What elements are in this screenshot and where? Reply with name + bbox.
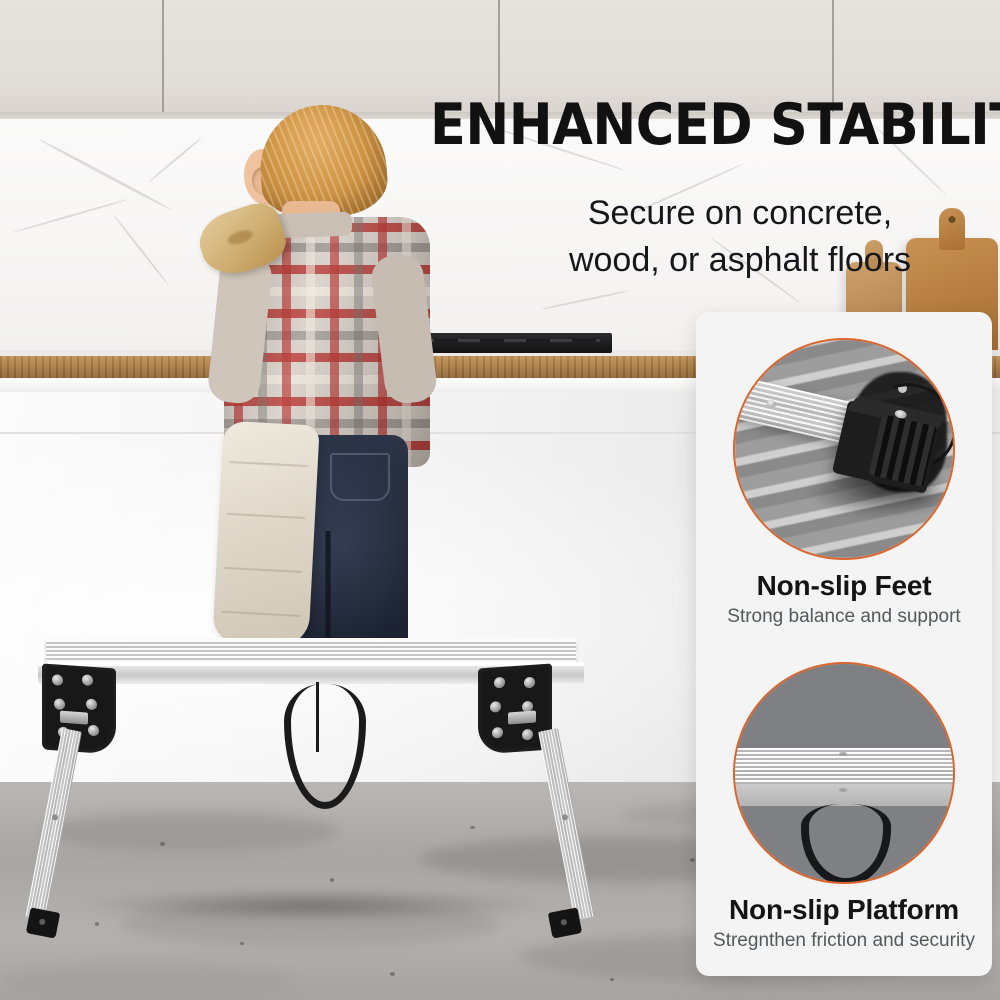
platform-deck-ribs (46, 640, 576, 662)
feature-card: Non-slip Feet Strong balance and support… (696, 312, 992, 976)
feature-title: Non-slip Platform (696, 894, 992, 926)
page-title: ENHANCED STABILITY (430, 96, 942, 154)
hanging-towel (212, 421, 319, 648)
feature-non-slip-platform: Non-slip Platform Stregnthen friction an… (696, 662, 992, 952)
non-slip-platform-closeup-image (733, 662, 955, 884)
child-standing-on-platform (208, 105, 438, 665)
subtitle: Secure on concrete, wood, or asphalt flo… (500, 190, 980, 284)
non-slip-foot-left (26, 907, 60, 938)
feature-non-slip-feet: Non-slip Feet Strong balance and support (696, 338, 992, 628)
platform-leg-left (26, 728, 82, 920)
feature-title: Non-slip Feet (696, 570, 992, 602)
feature-subtitle: Stregnthen friction and security (696, 930, 992, 952)
non-slip-foot-right (548, 907, 582, 938)
aluminum-work-platform (16, 638, 606, 938)
product-marketing-image: ENHANCED STABILITY Secure on concrete, w… (0, 0, 1000, 1000)
non-slip-foot-cap-closeup-image (733, 338, 955, 560)
platform-leg-right (538, 728, 594, 920)
subtitle-line-1: Secure on concrete, (500, 190, 980, 237)
platform-floor-shadow (76, 888, 546, 922)
feature-subtitle: Strong balance and support (696, 606, 992, 628)
platform-deck-highlight (38, 662, 584, 666)
carry-strap (284, 684, 366, 809)
subtitle-line-2: wood, or asphalt floors (500, 237, 980, 284)
